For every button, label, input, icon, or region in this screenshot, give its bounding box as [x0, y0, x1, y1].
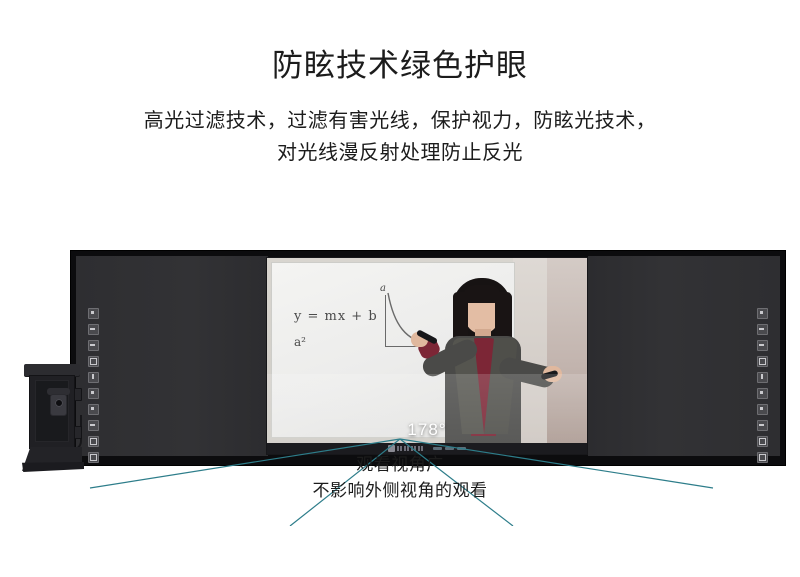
subtitle-line-2: 对光线漫反射处理防止反光	[0, 136, 800, 168]
right-wing-panel	[588, 256, 780, 456]
source-icon[interactable]	[757, 388, 768, 399]
viewing-angle-label: 178°	[267, 420, 587, 440]
subtitle-line-1: 高光过滤技术，过滤有害光线，保护视力，防眩光技术，	[0, 104, 800, 136]
taskbar-right-group[interactable]	[433, 447, 466, 450]
right-wing-button-rail	[757, 308, 768, 463]
taskbar-status-icon	[433, 447, 466, 450]
headline-block: 防眩技术绿色护眼 高光过滤技术，过滤有害光线，保护视力，防眩光技术， 对光线漫反…	[0, 44, 800, 168]
interactive-flat-panel: y = mx + b a² a b	[70, 250, 786, 466]
frame-icon[interactable]	[757, 356, 768, 367]
left-wing-panel	[76, 256, 268, 456]
app-logo-icon	[388, 445, 395, 452]
frame-icon[interactable]	[88, 356, 99, 367]
ptz-camera	[50, 394, 67, 416]
contrast-icon[interactable]	[757, 340, 768, 351]
taskbar-left-group[interactable]	[388, 445, 424, 452]
brightness-icon[interactable]	[757, 324, 768, 335]
main-display-screen[interactable]: y = mx + b a² a b	[266, 257, 588, 455]
grid-icon[interactable]	[757, 436, 768, 447]
page-title: 防眩技术绿色护眼	[0, 44, 800, 88]
split-screen-icon[interactable]	[757, 420, 768, 431]
stand-cabinet-body	[29, 375, 75, 449]
power-icon[interactable]	[757, 372, 768, 383]
caption-line-1: 观看视角广	[0, 452, 800, 478]
power-icon[interactable]	[88, 372, 99, 383]
contrast-icon[interactable]	[88, 340, 99, 351]
menu-icon[interactable]	[757, 404, 768, 415]
caption-block: 观看视角广 不影响外侧视角的观看	[0, 452, 800, 504]
whiteboard-equation: y = mx + b	[294, 309, 378, 324]
menu-icon[interactable]	[88, 404, 99, 415]
mount-bracket-bottom	[74, 426, 82, 439]
stand-cabinet-interior	[35, 380, 69, 442]
caption-line-2: 不影响外侧视角的观看	[0, 478, 800, 504]
source-icon[interactable]	[88, 388, 99, 399]
mount-bracket-top	[74, 388, 82, 401]
grid-icon[interactable]	[88, 436, 99, 447]
left-wing-button-rail	[88, 308, 99, 463]
taskbar-items-icon	[397, 446, 424, 451]
display-icon[interactable]	[757, 308, 768, 319]
display-icon[interactable]	[88, 308, 99, 319]
whiteboard-secondary-text: a²	[294, 335, 306, 349]
brightness-icon[interactable]	[88, 324, 99, 335]
split-screen-icon[interactable]	[88, 420, 99, 431]
subtitle-block: 高光过滤技术，过滤有害光线，保护视力，防眩光技术， 对光线漫反射处理防止反光	[0, 104, 800, 168]
camera-lens-icon	[55, 399, 63, 407]
